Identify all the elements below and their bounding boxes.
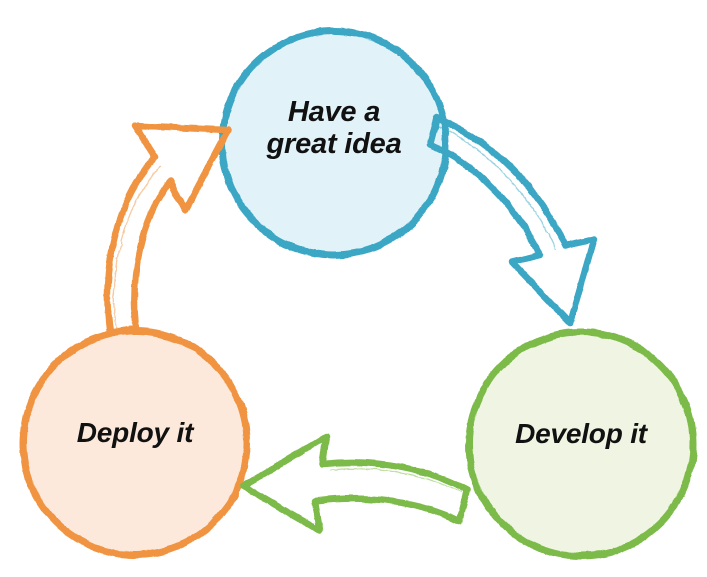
arrows-layer xyxy=(0,0,707,577)
arrow-develop-to-deploy[interactable] xyxy=(243,437,467,531)
arrow-deploy-to-idea[interactable] xyxy=(107,126,228,332)
cycle-diagram: Have a great idea Deploy it Develop it xyxy=(0,0,707,577)
arrow-idea-to-develop[interactable] xyxy=(430,118,594,323)
